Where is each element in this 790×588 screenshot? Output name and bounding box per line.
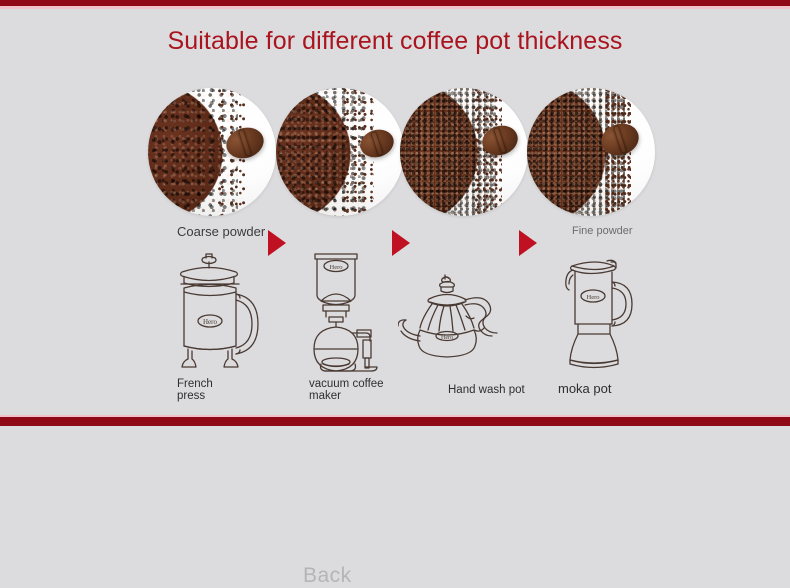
svg-text:Hero: Hero xyxy=(587,294,600,301)
grind-stage-3 xyxy=(400,88,528,216)
grind-progression xyxy=(0,88,790,220)
fine-powder-label: Fine powder xyxy=(572,225,633,237)
hand-wash-pot-icon: Hero xyxy=(398,248,548,368)
svg-text:Hero: Hero xyxy=(203,318,217,326)
vacuum-coffee-maker-icon: Hero xyxy=(297,248,402,376)
page-title: Suitable for different coffee pot thickn… xyxy=(0,27,790,56)
brewer-label-moka-pot: moka pot xyxy=(558,383,611,395)
grind-stage-2 xyxy=(276,88,404,216)
top-accent-bar-light xyxy=(0,6,790,9)
brewer-label-vacuum-coffee-maker: vacuum coffee maker xyxy=(309,379,384,402)
grind-stage-1 xyxy=(148,88,276,216)
svg-text:Hero: Hero xyxy=(330,264,343,271)
moka-pot-icon: Hero xyxy=(558,248,653,370)
grind-stage-4 xyxy=(527,88,655,216)
brewer-label-hand-wash-pot: Hand wash pot xyxy=(448,385,525,397)
bottom-accent-bar xyxy=(0,417,790,426)
promo-banner: Suitable for different coffee pot thickn… xyxy=(0,0,790,426)
watermark-text: Back xyxy=(303,564,352,588)
brewer-illustrations: Hero Hero xyxy=(0,248,790,398)
brewer-label-french-press: French press xyxy=(177,379,213,402)
svg-text:Hero: Hero xyxy=(441,335,453,341)
coarse-powder-label: Coarse powder xyxy=(177,224,265,239)
french-press-icon: Hero xyxy=(160,248,280,373)
